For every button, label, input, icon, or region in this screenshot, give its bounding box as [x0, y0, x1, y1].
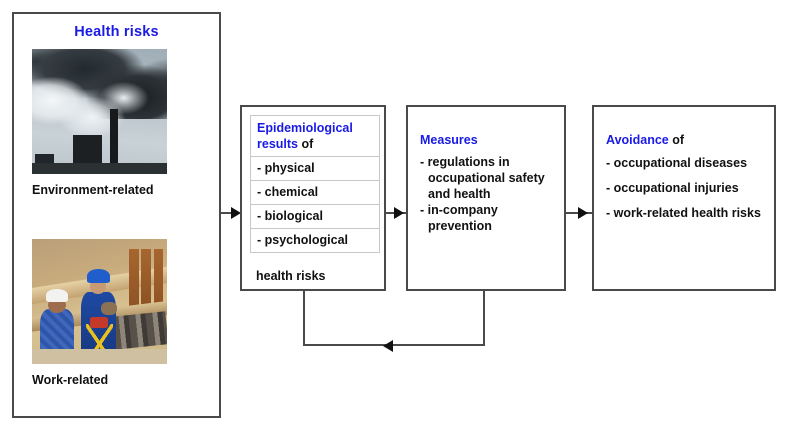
measures-item-in-company-prevention: - in-company prevention — [420, 202, 552, 234]
arrow-head-feedback-to-epidemiological — [383, 340, 393, 352]
chimney-stack — [110, 109, 117, 167]
avoidance-item-work-related-health-risks: - work-related health risks — [606, 205, 762, 221]
measures-heading-label: Measures — [420, 133, 478, 147]
epidemiological-item-chemical: - chemical — [251, 181, 379, 205]
diagram-canvas: Health risks Environment-related — [0, 0, 800, 444]
avoidance-heading-of: of — [669, 133, 684, 147]
measures-content: Measures - regulations in occupational s… — [408, 107, 564, 289]
measures-item-regulations: - regulations in occupational safety and… — [420, 154, 552, 202]
work-photo-caption: Work-related — [32, 373, 167, 387]
panel-title: Health risks — [14, 24, 219, 40]
epidemiological-heading-of: of — [298, 137, 313, 151]
feedback-line-horizontal — [303, 344, 485, 346]
avoidance-heading: Avoidance of — [606, 132, 762, 148]
feedback-line-down-from-measures — [483, 291, 485, 346]
arrow-head-measures-to-avoidance — [578, 207, 588, 219]
epidemiological-heading-line2: results — [257, 137, 298, 151]
epidemiological-results-box: Epidemiological results of - physical - … — [240, 105, 386, 291]
skyline-strip — [32, 163, 167, 174]
work-photo-block: Work-related — [32, 239, 167, 387]
epidemiological-heading-line1: Epidemiological — [257, 121, 353, 135]
epidemiological-heading: Epidemiological results of — [257, 120, 373, 152]
avoidance-item-occupational-injuries: - occupational injuries — [606, 180, 762, 196]
avoidance-content: Avoidance of - occupational diseases - o… — [594, 107, 774, 289]
epidemiological-footer-label: health risks — [256, 269, 325, 283]
smokestack-photo — [32, 49, 167, 174]
epidemiological-item-biological: - biological — [251, 205, 379, 229]
epidemiological-item-psychological: - psychological — [251, 229, 379, 253]
measures-heading: Measures — [420, 132, 552, 148]
epidemiological-item-label: - physical — [257, 160, 373, 176]
avoidance-heading-label: Avoidance — [606, 133, 669, 147]
work-glove — [101, 302, 117, 316]
environment-photo-caption: Environment-related — [32, 183, 167, 197]
arrow-head-epidemiological-to-measures — [394, 207, 404, 219]
environment-photo-block: Environment-related — [32, 49, 167, 197]
ground-strip — [32, 349, 167, 364]
epidemiological-inner-table: Epidemiological results of - physical - … — [250, 115, 380, 253]
measures-box: Measures - regulations in occupational s… — [406, 105, 566, 291]
epidemiological-item-physical: - physical — [251, 157, 379, 181]
blue-helmet-icon — [87, 269, 110, 283]
epidemiological-item-label: - chemical — [257, 184, 373, 200]
feedback-line-up-to-epidemiological — [303, 291, 305, 346]
construction-workers-photo — [32, 239, 167, 364]
epidemiological-header-row: Epidemiological results of — [251, 116, 379, 157]
epidemiological-item-label: - psychological — [257, 232, 373, 248]
steel-pipes — [111, 311, 167, 349]
avoidance-item-occupational-diseases: - occupational diseases — [606, 155, 762, 171]
avoidance-box: Avoidance of - occupational diseases - o… — [592, 105, 776, 291]
health-risks-panel: Health risks Environment-related — [12, 12, 221, 418]
white-helmet-icon — [46, 289, 69, 302]
epidemiological-item-label: - biological — [257, 208, 373, 224]
